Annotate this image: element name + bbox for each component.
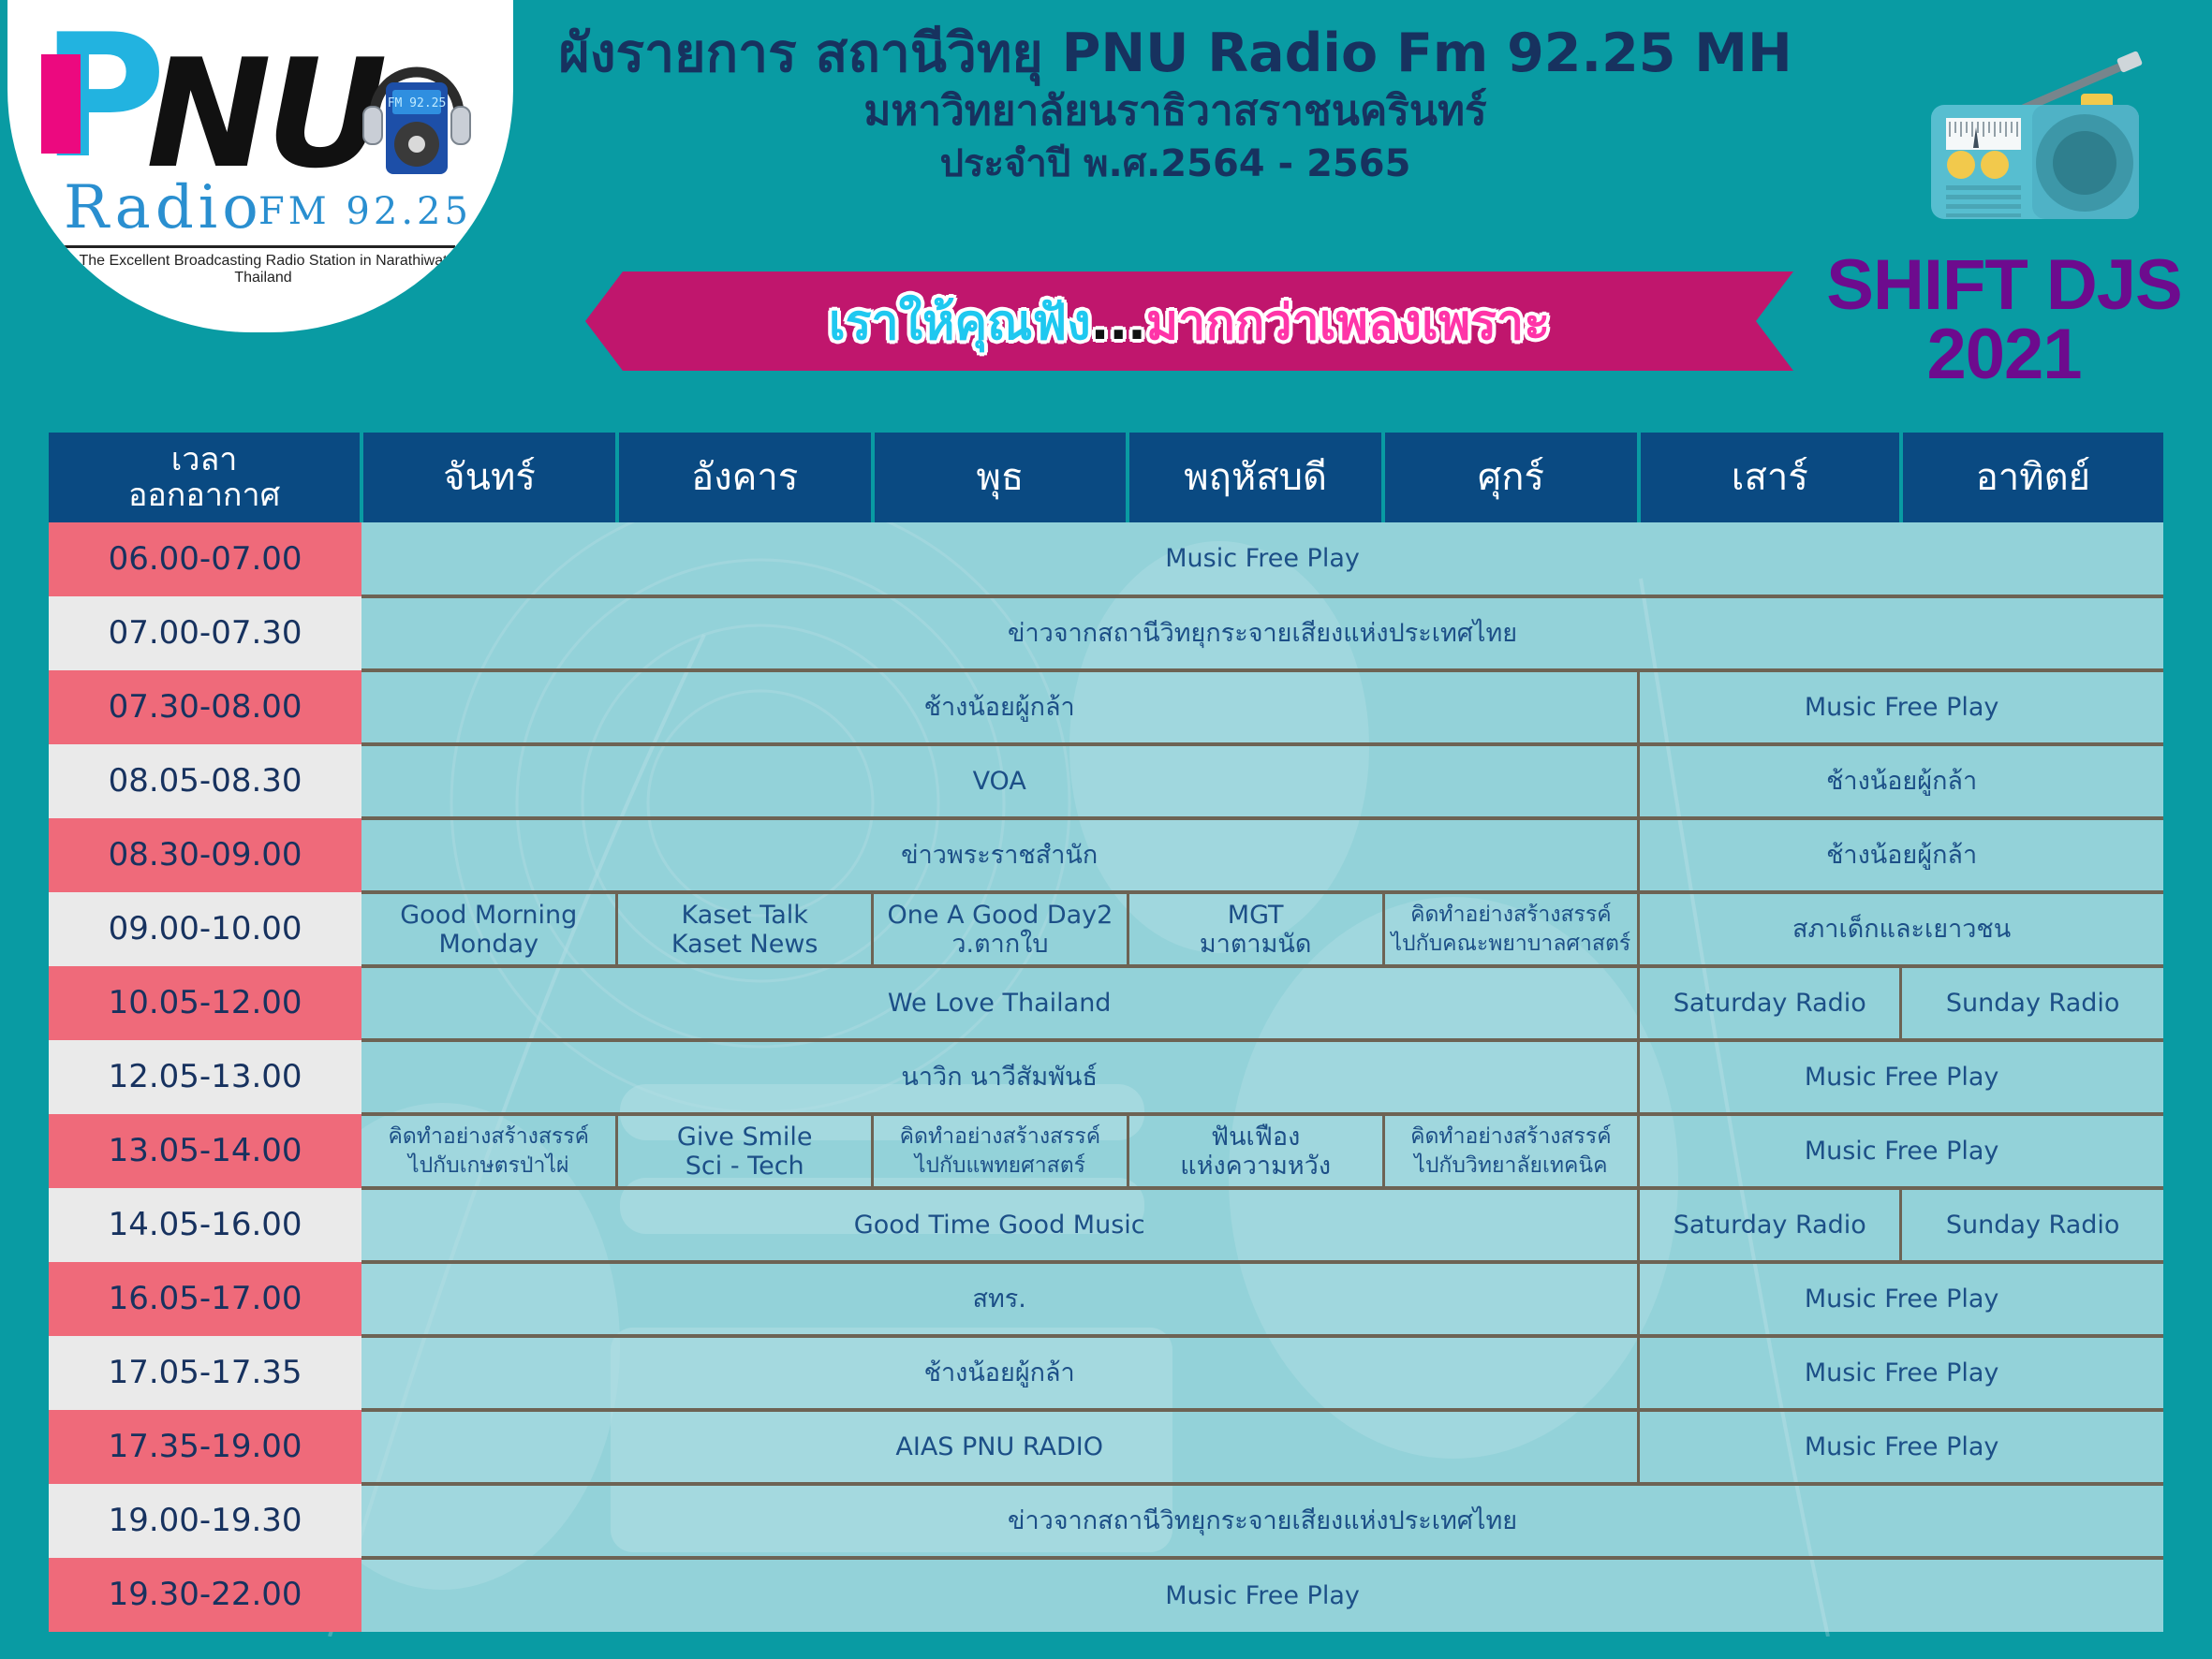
time-slot-cell: 14.05-16.00 [49,1188,361,1262]
table-row: 08.05-08.30VOAช้างน้อยผู้กล้า [49,744,2163,818]
time-slot-cell: 06.00-07.00 [49,522,361,596]
table-row: 16.05-17.00สทร.Music Free Play [49,1262,2163,1336]
program-cell: Music Free Play [361,522,2163,596]
program-title-line2: ไปกับเกษตรป่าไผ่ [361,1152,615,1181]
program-title-line2: แห่งความหวัง [1129,1152,1382,1181]
slogan-dots: ... [1091,295,1146,351]
table-row: 19.30-22.00Music Free Play [49,1558,2163,1632]
time-slot-cell: 08.30-09.00 [49,818,361,892]
time-slot-cell: 19.00-19.30 [49,1484,361,1558]
program-cell: Music Free Play [1639,1410,2163,1484]
shift-djs-line1: SHIFT DJS [1798,251,2210,320]
program-cell: สภาเด็กและเยาวชน [1639,892,2163,966]
program-cell: ข่าวจากสถานีวิทยุกระจายเสียงแห่งประเทศไท… [361,596,2163,670]
program-cell: ฟันเฟืองแห่งความหวัง [1128,1114,1383,1188]
station-logo: P NU FM 92.25 Radio FM 92.25 The Excelle… [7,0,513,332]
program-title-line2: Kaset News [618,930,871,959]
program-title-line1: One A Good Day2 [874,901,1127,930]
broadcast-schedule-table: เวลา ออกอากาศ จันทร์ อังคาร พุธ พฤหัสบดี… [49,433,2163,1632]
program-cell: ข่าวพระราชสำนัก [361,818,1639,892]
program-cell: Sunday Radio [1901,1188,2163,1262]
program-title-line2: Monday [361,930,615,959]
logo-divider [62,245,455,248]
program-title-line2: ไปกับวิทยาลัยเทคนิค [1385,1152,1638,1181]
program-cell: คิดทำอย่างสร้างสรรค์ไปกับวิทยาลัยเทคนิค [1383,1114,1639,1188]
schedule-year: ประจำปี พ.ศ.2564 - 2565 [524,139,1826,189]
column-header-monday: จันทร์ [361,433,617,522]
radio-headphone-icon: FM 92.25 [347,45,487,185]
slogan-part-2: มากกว่าเพลงเพราะ [1146,295,1550,351]
time-slot-cell: 13.05-14.00 [49,1114,361,1188]
program-cell: AIAS PNU RADIO [361,1410,1639,1484]
university-name: มหาวิทยาลัยนราธิวาสราชนครินทร์ [524,84,1826,139]
table-header: เวลา ออกอากาศ จันทร์ อังคาร พุธ พฤหัสบดี… [49,433,2163,522]
time-slot-cell: 09.00-10.00 [49,892,361,966]
page-header: P NU FM 92.25 Radio FM 92.25 The Excelle… [0,0,2212,426]
time-slot-cell: 07.30-08.00 [49,670,361,744]
svg-text:FM 92.25: FM 92.25 [388,96,447,110]
program-title-line1: คิดทำอย่างสร้างสรรค์ [874,1123,1127,1152]
program-cell: Sunday Radio [1901,966,2163,1040]
program-cell: Kaset TalkKaset News [617,892,873,966]
table-row: 06.00-07.00Music Free Play [49,522,2163,596]
time-slot-cell: 19.30-22.00 [49,1558,361,1632]
program-cell: คิดทำอย่างสร้างสรรค์ไปกับคณะพยาบาลศาสตร์ [1383,892,1639,966]
slogan-part-1: เราให้คุณฟัง [829,295,1091,351]
time-slot-cell: 17.05-17.35 [49,1336,361,1410]
table-row: 10.05-12.00We Love ThailandSaturday Radi… [49,966,2163,1040]
program-cell: Music Free Play [361,1558,2163,1632]
column-header-thursday: พฤหัสบดี [1128,433,1383,522]
time-slot-cell: 10.05-12.00 [49,966,361,1040]
time-slot-cell: 07.00-07.30 [49,596,361,670]
program-title-line2: Sci - Tech [618,1152,871,1181]
table-row: 07.30-08.00ช้างน้อยผู้กล้าMusic Free Pla… [49,670,2163,744]
program-cell: Give SmileSci - Tech [617,1114,873,1188]
program-title-line2: มาตามนัด [1129,930,1382,959]
slogan-banner: เราให้คุณฟัง...มากกว่าเพลงเพราะ [585,272,1793,371]
shift-djs-line2: 2021 [1798,320,2210,389]
column-header-friday: ศุกร์ [1383,433,1639,522]
time-slot-cell: 17.35-19.00 [49,1410,361,1484]
program-cell: We Love Thailand [361,966,1639,1040]
table-row: 14.05-16.00Good Time Good MusicSaturday … [49,1188,2163,1262]
logo-radio-word: Radio [64,178,263,238]
program-cell: Good MorningMonday [361,892,617,966]
program-title-line2: ไปกับแพทยศาสตร์ [874,1152,1127,1181]
column-header-wednesday: พุธ [873,433,1128,522]
program-title-line2: ไปกับคณะพยาบาลศาสตร์ [1385,930,1638,959]
program-cell: MGTมาตามนัด [1128,892,1383,966]
table-row: 13.05-14.00คิดทำอย่างสร้างสรรค์ไปกับเกษต… [49,1114,2163,1188]
logo-pink-block [41,54,81,154]
program-cell: คิดทำอย่างสร้างสรรค์ไปกับเกษตรป่าไผ่ [361,1114,617,1188]
program-cell: ช้างน้อยผู้กล้า [361,670,1639,744]
header-title-block: ผังรายการ สถานีวิทยุ PNU Radio Fm 92.25 … [524,22,1826,189]
header-row: เวลา ออกอากาศ จันทร์ อังคาร พุธ พฤหัสบดี… [49,433,2163,522]
column-header-saturday: เสาร์ [1639,433,1901,522]
shift-djs-label: SHIFT DJS 2021 [1798,251,2210,389]
table-body: 06.00-07.00Music Free Play07.00-07.30ข่า… [49,522,2163,1632]
program-cell: Music Free Play [1639,1040,2163,1114]
program-cell: Good Time Good Music [361,1188,1639,1262]
program-cell: ข่าวจากสถานีวิทยุกระจายเสียงแห่งประเทศไท… [361,1484,2163,1558]
program-title-line1: ฟันเฟือง [1129,1123,1382,1152]
table-row: 12.05-13.00นาวิก นาวีสัมพันธ์Music Free … [49,1040,2163,1114]
column-header-tuesday: อังคาร [617,433,873,522]
table-row: 08.30-09.00ข่าวพระราชสำนักช้างน้อยผู้กล้… [49,818,2163,892]
slogan-text: เราให้คุณฟัง...มากกว่าเพลงเพราะ [829,283,1550,360]
program-cell: VOA [361,744,1639,818]
program-cell: Music Free Play [1639,1262,2163,1336]
page-title: ผังรายการ สถานีวิทยุ PNU Radio Fm 92.25 … [524,22,1826,84]
program-cell: Music Free Play [1639,670,2163,744]
program-title-line1: Give Smile [618,1123,871,1152]
time-slot-cell: 16.05-17.00 [49,1262,361,1336]
program-cell: ช้างน้อยผู้กล้า [361,1336,1639,1410]
time-header-line2: ออกอากาศ [128,477,280,514]
time-header-line1: เวลา [171,441,238,478]
program-title-line1: Good Morning [361,901,615,930]
program-cell: ช้างน้อยผู้กล้า [1639,818,2163,892]
program-cell: นาวิก นาวีสัมพันธ์ [361,1040,1639,1114]
program-title-line1: Kaset Talk [618,901,871,930]
program-cell: สทร. [361,1262,1639,1336]
column-header-sunday: อาทิตย์ [1901,433,2163,522]
program-title-line1: MGT [1129,901,1382,930]
program-cell: One A Good Day2ว.ตากใบ [873,892,1128,966]
program-cell: ช้างน้อยผู้กล้า [1639,744,2163,818]
program-cell: Saturday Radio [1639,966,1901,1040]
program-title-line1: คิดทำอย่างสร้างสรรค์ [361,1123,615,1152]
logo-fm-frequency: FM 92.25 [258,193,472,230]
logo-tagline: The Excellent Broadcasting Radio Station… [62,253,465,286]
program-cell: Music Free Play [1639,1336,2163,1410]
time-slot-cell: 12.05-13.00 [49,1040,361,1114]
table-row: 19.00-19.30ข่าวจากสถานีวิทยุกระจายเสียงแ… [49,1484,2163,1558]
table-row: 17.35-19.00AIAS PNU RADIOMusic Free Play [49,1410,2163,1484]
time-slot-cell: 08.05-08.30 [49,744,361,818]
table-row: 07.00-07.30ข่าวจากสถานีวิทยุกระจายเสียงแ… [49,596,2163,670]
table-row: 17.05-17.35ช้างน้อยผู้กล้าMusic Free Pla… [49,1336,2163,1410]
radio-receiver-icon [1882,37,2191,225]
program-title-line2: ว.ตากใบ [874,930,1127,959]
program-cell: คิดทำอย่างสร้างสรรค์ไปกับแพทยศาสตร์ [873,1114,1128,1188]
program-cell: Music Free Play [1639,1114,2163,1188]
table-row: 09.00-10.00Good MorningMondayKaset TalkK… [49,892,2163,966]
program-title-line1: คิดทำอย่างสร้างสรรค์ [1385,1123,1638,1152]
column-header-time: เวลา ออกอากาศ [49,433,361,522]
program-title-line1: คิดทำอย่างสร้างสรรค์ [1385,901,1638,930]
program-cell: Saturday Radio [1639,1188,1901,1262]
